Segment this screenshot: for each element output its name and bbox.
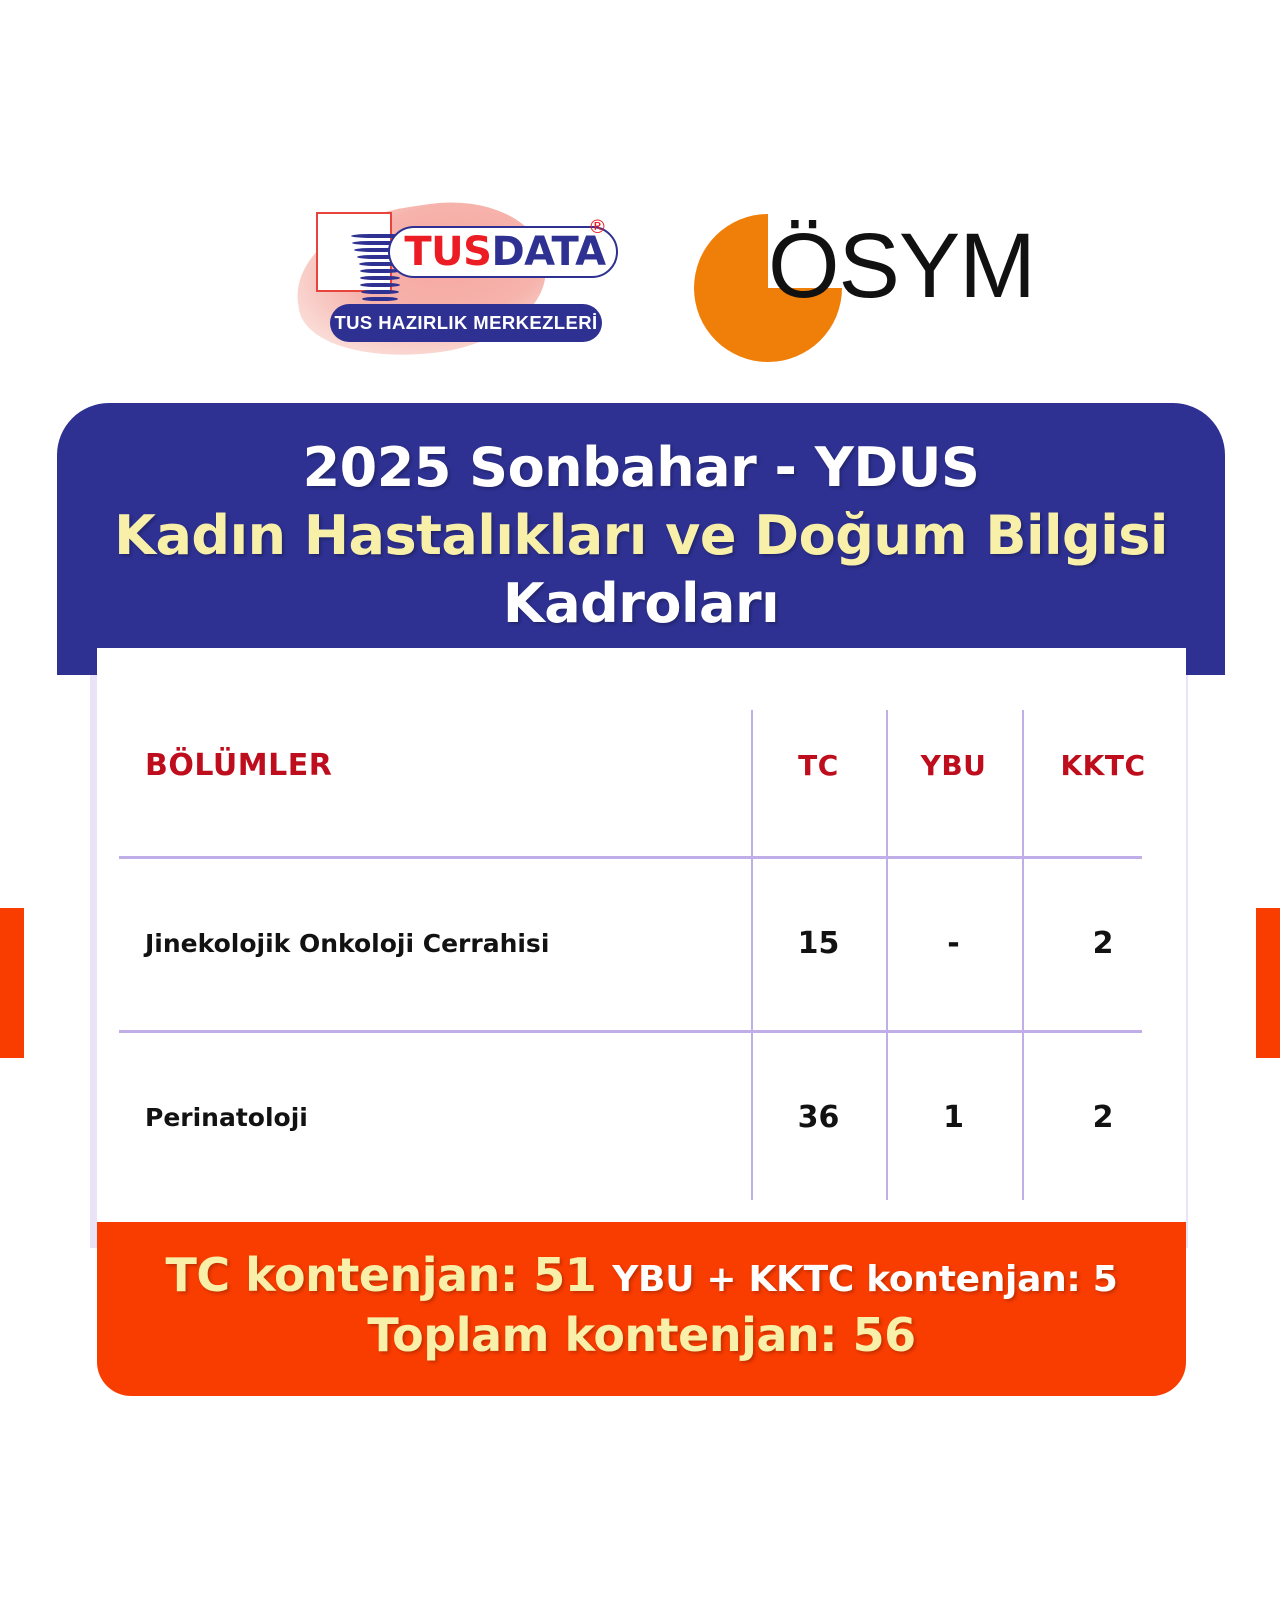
osym-wordmark: ÖSYM (768, 220, 1035, 312)
tc-quota-label: TC kontenjan: 51 (166, 1248, 597, 1302)
left-orange-accent-bar (0, 908, 24, 1058)
registered-trademark-icon: ® (588, 216, 607, 238)
tusdata-tagline: TUS HAZIRLIK MERKEZLERİ (330, 304, 602, 342)
title-banner: 2025 Sonbahar - YDUS Kadın Hastalıkları … (57, 403, 1225, 675)
column-header-ybu: YBU (886, 749, 1021, 782)
row-divider-1 (119, 856, 1142, 859)
table-row: Jinekolojik Onkoloji Cerrahisi 15 - 2 (97, 916, 1186, 970)
row-kktc-value: 2 (1021, 926, 1185, 961)
total-quota-label: Toplam kontenjan: 56 (367, 1308, 915, 1362)
logo-row: TUSDATA ® TUS HAZIRLIK MERKEZLERİ ÖSYM (0, 192, 1280, 362)
column-header-bolumler: BÖLÜMLER (97, 748, 751, 783)
right-orange-accent-bar (1256, 908, 1280, 1058)
row-name: Jinekolojik Onkoloji Cerrahisi (97, 929, 751, 958)
row-tc-value: 15 (751, 926, 886, 961)
row-ybu-value: 1 (886, 1100, 1021, 1135)
quota-summary-footer: TC kontenjan: 51 YBU + KKTC kontenjan: 5… (97, 1222, 1186, 1396)
column-header-kktc: KKTC (1021, 749, 1185, 782)
quota-summary-row-1: TC kontenjan: 51 YBU + KKTC kontenjan: 5 (97, 1248, 1186, 1302)
row-divider-2 (119, 1030, 1142, 1033)
row-tc-value: 36 (751, 1100, 886, 1135)
banner-line-1: 2025 Sonbahar - YDUS (81, 434, 1201, 502)
table-header-row: BÖLÜMLER TC YBU KKTC (97, 740, 1186, 790)
quota-card: BÖLÜMLER TC YBU KKTC Jinekolojik Onkoloj… (97, 648, 1186, 1248)
column-header-tc: TC (751, 749, 886, 782)
osym-logo: ÖSYM (694, 204, 1024, 354)
ybu-kktc-quota-label: YBU + KKTC kontenjan: 5 (612, 1259, 1117, 1300)
tusdata-wordmark: TUSDATA (400, 228, 610, 276)
quota-table: BÖLÜMLER TC YBU KKTC Jinekolojik Onkoloj… (97, 648, 1186, 1200)
row-name: Perinatoloji (97, 1103, 751, 1132)
banner-line-3: Kadroları (81, 570, 1201, 638)
banner-line-2: Kadın Hastalıkları ve Doğum Bilgisi (81, 502, 1201, 570)
row-ybu-value: - (886, 926, 1021, 961)
tusdata-word-tus: TUS (404, 229, 491, 275)
table-row: Perinatoloji 36 1 2 (97, 1090, 1186, 1144)
tusdata-book-icon (316, 212, 392, 292)
tusdata-logo: TUSDATA ® TUS HAZIRLIK MERKEZLERİ (292, 200, 632, 360)
row-kktc-value: 2 (1021, 1100, 1185, 1135)
